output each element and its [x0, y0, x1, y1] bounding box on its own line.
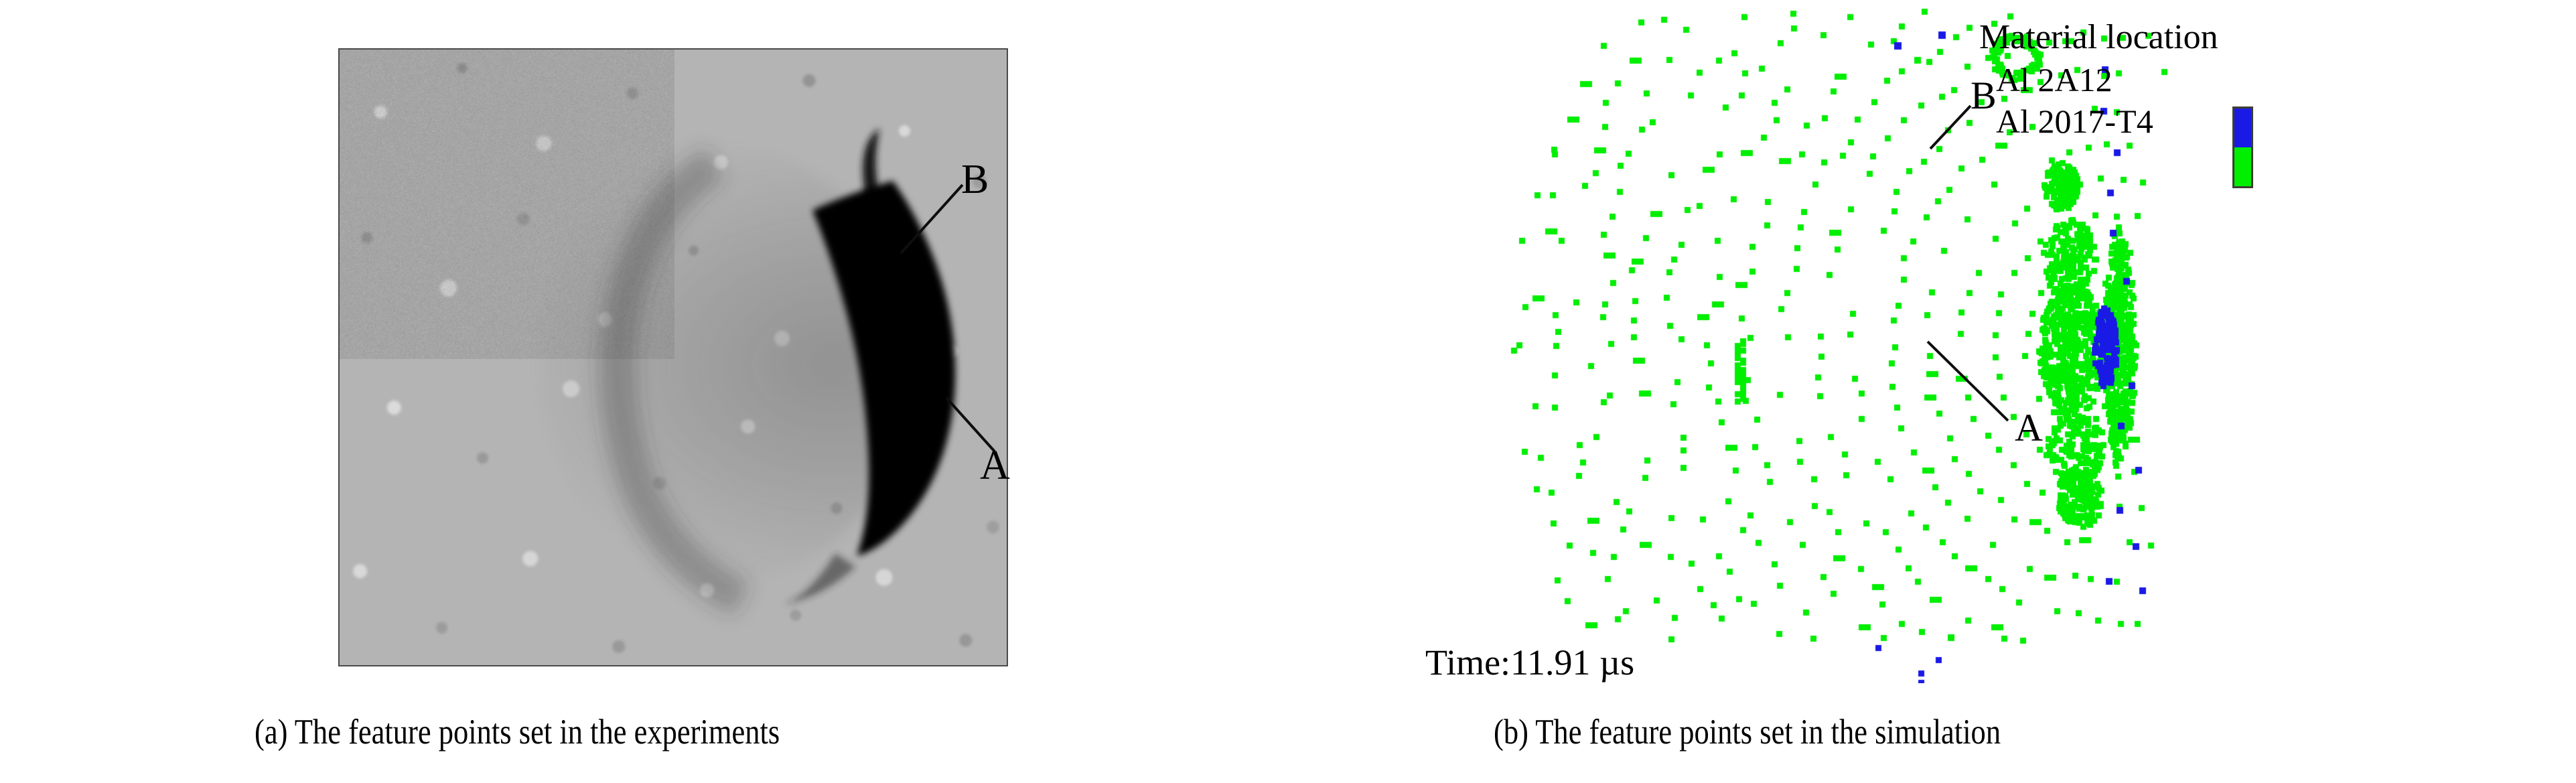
simulation-time-label: Time:11.91 µs [1425, 642, 1634, 683]
legend-swatch-green [2234, 147, 2251, 186]
legend-label-al-2a12: Al 2A12 [1996, 60, 2113, 99]
leader-line-b [901, 185, 962, 253]
photo-label-a: A [980, 445, 1010, 486]
caption-panel-a: (a) The feature points set in the experi… [255, 712, 780, 752]
simulation-panel: B A [1494, 7, 2271, 683]
legend-swatch-blue [2234, 109, 2251, 147]
photo-leader-lines [340, 50, 1008, 666]
sim-leader-line-b [1930, 106, 1971, 149]
sim-label-a: A [2015, 409, 2043, 447]
photo-frame [338, 48, 1008, 666]
legend-label-al-2017-t4: Al 2017-T4 [1996, 102, 2153, 141]
legend-color-swatch [2232, 106, 2253, 188]
legend-title: Material location [1979, 17, 2218, 57]
photo-label-b: B [961, 159, 989, 200]
sim-leader-line-a [1928, 342, 2008, 421]
experiment-photo-panel: B A [338, 48, 1008, 666]
figure-root: B A B A Material location Al 2A12 Al 201… [0, 0, 2576, 783]
caption-panel-b: (b) The feature points set in the simula… [1494, 712, 2001, 752]
sim-leader-lines [1494, 7, 2271, 683]
sim-label-b: B [1971, 76, 1997, 115]
